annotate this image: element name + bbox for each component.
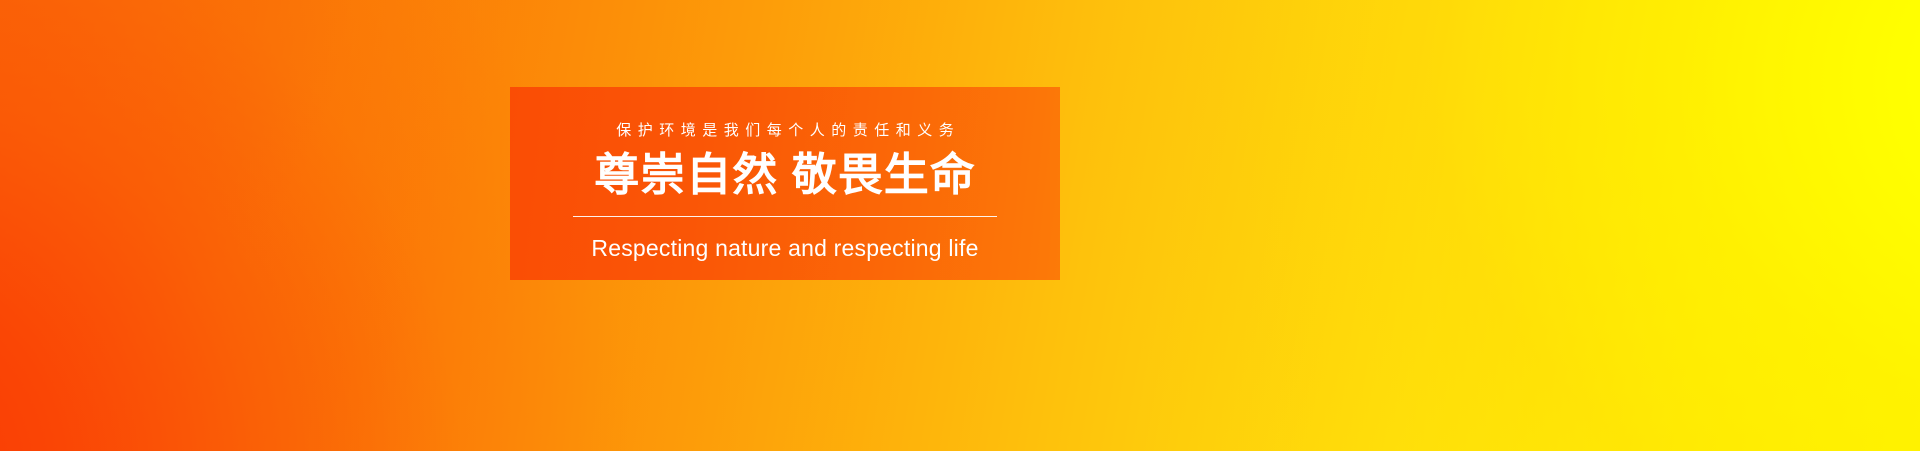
panel-divider <box>573 216 997 217</box>
slogan-panel: 保护环境是我们每个人的责任和义务 尊崇自然 敬畏生命 Respecting na… <box>510 87 1060 280</box>
panel-headline-chinese: 尊崇自然 敬畏生命 <box>594 152 976 197</box>
environment-slogan-banner: 保护环境是我们每个人的责任和义务 尊崇自然 敬畏生命 Respecting na… <box>0 0 1920 451</box>
panel-tagline-english: Respecting nature and respecting life <box>591 237 978 260</box>
panel-subtitle-chinese: 保护环境是我们每个人的责任和义务 <box>610 123 961 138</box>
